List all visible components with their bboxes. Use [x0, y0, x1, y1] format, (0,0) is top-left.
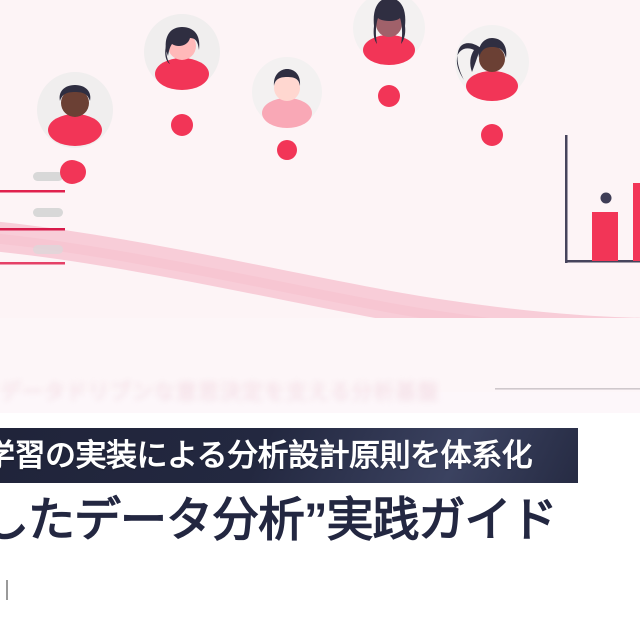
lower-divider-rule [495, 388, 640, 390]
subtitle-banner-text: 学習の実装による分析設計原則を体系化 [0, 440, 532, 471]
main-headline: したデータ分析”実践ガイド [0, 488, 640, 550]
illustration-graphics [0, 0, 640, 413]
chart-bar-1 [592, 212, 618, 261]
hero-illustration: データドリブンな意思決定を支える分析基盤 [0, 0, 640, 413]
avatar-3-dot [277, 140, 297, 160]
list-row-2-pill [33, 208, 63, 217]
list-row-3-rule [0, 262, 65, 265]
illustration-ghost-text: データドリブンな意思決定を支える分析基盤 [0, 378, 480, 408]
chart-marker-dot [601, 193, 612, 204]
bottom-tick-mark [6, 580, 8, 600]
chart-y-axis [565, 135, 568, 263]
list-row-1-rule [0, 190, 65, 193]
list-row-1-pill [33, 172, 63, 181]
avatar-4-dot [378, 85, 400, 107]
chart-bar-2 [633, 183, 640, 261]
list-row-2-rule [0, 228, 65, 231]
main-headline-text: したデータ分析”実践ガイド [0, 496, 557, 543]
avatar-2-dot [171, 114, 193, 136]
page-root: データドリブンな意思決定を支える分析基盤 学習の実装による分析設計原則を体系化 … [0, 0, 640, 630]
list-row-1-dot [60, 160, 84, 184]
subtitle-banner: 学習の実装による分析設計原則を体系化 [0, 428, 578, 483]
avatar-5-dot [481, 124, 503, 146]
list-row-3-pill [33, 245, 63, 254]
